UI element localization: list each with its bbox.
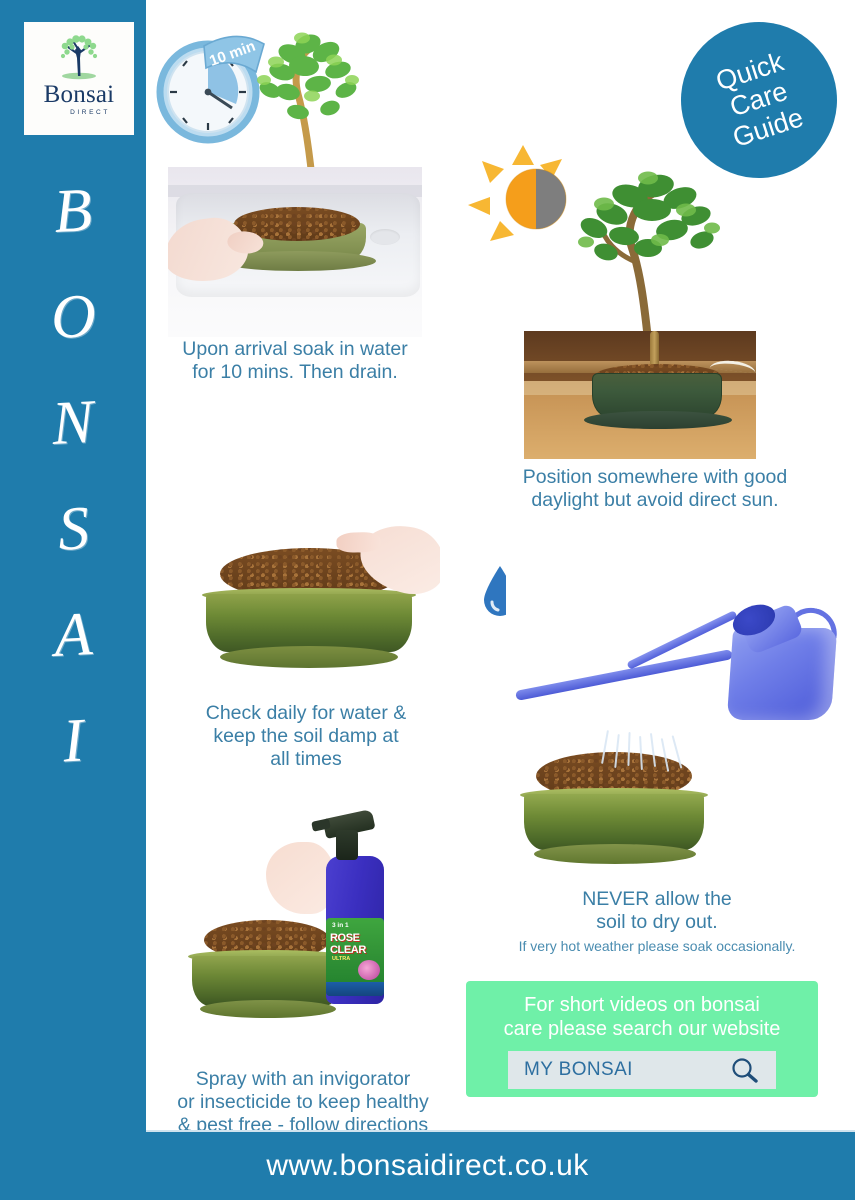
caption-line: all times bbox=[160, 748, 452, 771]
caption-line: Upon arrival soak in water bbox=[150, 338, 440, 361]
caption-line: Position somewhere with good bbox=[502, 466, 808, 489]
bonsai-tree-icon bbox=[51, 34, 107, 80]
logo-subtitle: DIRECT bbox=[70, 109, 110, 116]
caption-line: soil to dry out. bbox=[498, 911, 816, 934]
caption-line: Spray with an invigorator bbox=[152, 1068, 454, 1091]
photo-bonsai-on-windowsill bbox=[524, 331, 756, 459]
caption-line: NEVER allow the bbox=[498, 888, 816, 911]
caption-spray: Spray with an invigorator or insecticide… bbox=[152, 1068, 454, 1137]
brand-logo[interactable]: Bonsai DIRECT bbox=[24, 22, 134, 135]
trigger-grip bbox=[336, 830, 358, 860]
label-badge: 3 in 1 bbox=[332, 922, 349, 929]
rose-graphic-icon bbox=[358, 960, 380, 980]
pot bbox=[206, 594, 412, 652]
saucer bbox=[584, 411, 732, 429]
poster-root: Bonsai DIRECT B O N S A I bbox=[0, 0, 855, 1200]
caption-line: daylight but avoid direct sun. bbox=[502, 489, 808, 512]
pot bbox=[524, 794, 704, 850]
bonsai-foliage-soak bbox=[238, 20, 388, 180]
promo-line-1: For short videos on bonsai bbox=[477, 993, 807, 1017]
caption-line-small: If very hot weather please soak occasion… bbox=[498, 938, 816, 955]
logo-wordmark: Bonsai bbox=[44, 82, 115, 107]
saucer bbox=[200, 1000, 336, 1018]
photo-soaking-bonsai bbox=[168, 167, 422, 337]
vertical-letter: N bbox=[51, 391, 96, 455]
vertical-bonsai-letters: B O N S A I bbox=[0, 180, 146, 816]
watering-can-icon bbox=[682, 606, 844, 726]
photo-watering-bonsai bbox=[506, 548, 846, 878]
saucer bbox=[220, 646, 398, 668]
left-sidebar: Bonsai DIRECT B O N S A I bbox=[0, 0, 146, 1200]
spray-trigger bbox=[314, 814, 376, 860]
search-input[interactable]: MY BONSAI bbox=[508, 1051, 776, 1089]
bonsai-foliage-position bbox=[556, 152, 736, 342]
caption-soak: Upon arrival soak in water for 10 mins. … bbox=[150, 338, 440, 384]
label-tagline: ULTRA bbox=[332, 956, 350, 962]
caption-position: Position somewhere with good daylight bu… bbox=[502, 466, 808, 512]
photo-checking-soil bbox=[190, 398, 440, 694]
saucer bbox=[534, 844, 696, 864]
vertical-letter: A bbox=[52, 603, 93, 667]
caption-line: for 10 mins. Then drain. bbox=[150, 361, 440, 384]
vertical-letter: S bbox=[56, 497, 90, 561]
footer-bar: www.bonsaidirect.co.uk bbox=[0, 1132, 855, 1200]
label-name-line-2: CLEAR bbox=[330, 944, 366, 956]
spray-bottle: 3 in 1 ROSE CLEAR ULTRA bbox=[318, 814, 390, 1004]
promo-line-2: care please search our website bbox=[477, 1017, 807, 1041]
caption-never-dry: NEVER allow the soil to dry out. If very… bbox=[498, 888, 816, 955]
caption-line: Check daily for water & bbox=[160, 702, 452, 725]
caption-line: or insecticide to keep healthy bbox=[152, 1091, 454, 1114]
water-stream bbox=[602, 730, 694, 786]
website-url[interactable]: www.bonsaidirect.co.uk bbox=[266, 1149, 588, 1183]
label-bottom-strip bbox=[326, 982, 384, 996]
photo-spraying-bonsai: 3 in 1 ROSE CLEAR ULTRA bbox=[170, 786, 422, 1058]
caption-line: keep the soil damp at bbox=[160, 725, 452, 748]
search-input-value: MY BONSAI bbox=[524, 1059, 633, 1081]
promo-box: For short videos on bonsai care please s… bbox=[466, 981, 818, 1097]
tray-drain bbox=[370, 229, 400, 245]
search-icon[interactable] bbox=[730, 1057, 760, 1083]
label-name-line-1: ROSE bbox=[330, 932, 360, 944]
watering-can-spout bbox=[515, 649, 733, 701]
promo-text: For short videos on bonsai care please s… bbox=[477, 993, 807, 1041]
vertical-letter: I bbox=[61, 710, 85, 773]
caption-check-water: Check daily for water & keep the soil da… bbox=[160, 702, 452, 771]
spray-bottle-label: 3 in 1 ROSE CLEAR ULTRA bbox=[326, 918, 384, 996]
vertical-letter: B bbox=[52, 179, 93, 243]
vertical-letter: O bbox=[49, 285, 97, 349]
